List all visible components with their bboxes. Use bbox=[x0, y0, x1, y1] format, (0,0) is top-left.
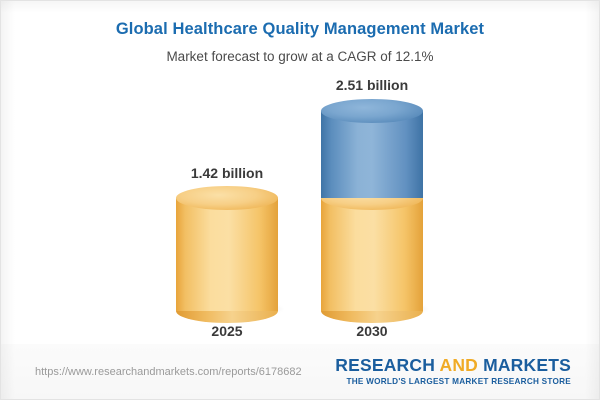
cylinder-body bbox=[321, 111, 423, 198]
cylinder-body bbox=[176, 198, 278, 311]
logo-word-markets: MARKETS bbox=[483, 355, 571, 375]
infographic-card: Global Healthcare Quality Management Mar… bbox=[0, 0, 600, 400]
bar-segment-base bbox=[176, 198, 278, 311]
report-url-link[interactable]: https://www.researchandmarkets.com/repor… bbox=[35, 366, 302, 378]
cylinder-2025 bbox=[176, 198, 278, 311]
cylinder-2030 bbox=[321, 111, 423, 311]
bar-chart: 1.42 billion 2025 2.51 billion 2030 bbox=[1, 1, 600, 346]
bar-value-label-2025: 1.42 billion bbox=[137, 165, 317, 181]
cylinder-top-cap-icon bbox=[176, 186, 278, 210]
logo-word-research: RESEARCH bbox=[335, 355, 435, 375]
cylinder-top-cap-icon bbox=[321, 99, 423, 123]
bar-value-label-2030: 2.51 billion bbox=[282, 77, 462, 93]
logo-wordmark: RESEARCH AND MARKETS bbox=[335, 357, 571, 375]
footer-bar: https://www.researchandmarkets.com/repor… bbox=[1, 344, 599, 399]
bar-segment-base bbox=[321, 198, 423, 311]
research-and-markets-logo[interactable]: RESEARCH AND MARKETS THE WORLD'S LARGEST… bbox=[335, 357, 581, 387]
cylinder-body bbox=[321, 198, 423, 311]
bar-category-label-2030: 2030 bbox=[282, 323, 462, 339]
bar-segment-growth bbox=[321, 111, 423, 198]
logo-tagline: THE WORLD'S LARGEST MARKET RESEARCH STOR… bbox=[335, 378, 571, 386]
logo-word-and: AND bbox=[439, 355, 478, 375]
